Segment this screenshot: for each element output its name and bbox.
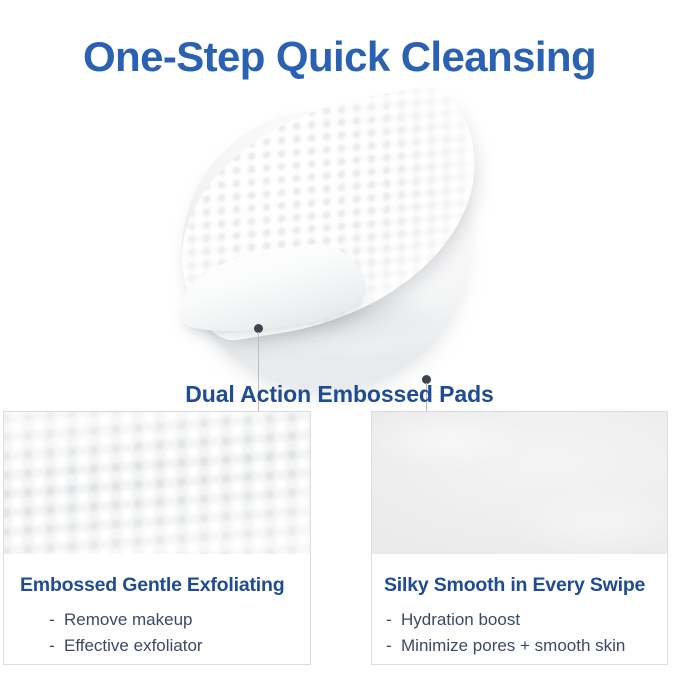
feature-panel-smooth: Silky Smooth in Every Swipe - Hydration …	[371, 411, 668, 665]
hero-caption: Dual Action Embossed Pads	[0, 381, 679, 408]
feature-panel-body: Embossed Gentle Exfoliating - Remove mak…	[4, 554, 310, 659]
embossed-texture-swatch	[4, 412, 310, 554]
bullet-dash: -	[49, 607, 64, 633]
bullet-dash: -	[386, 607, 401, 633]
bullet-text: Remove makeup	[64, 607, 193, 633]
bullet-dash: -	[49, 633, 64, 659]
feature-panel-embossed: Embossed Gentle Exfoliating - Remove mak…	[3, 411, 311, 665]
feature-panel-body: Silky Smooth in Every Swipe - Hydration …	[372, 554, 667, 659]
feature-bullet-list: - Hydration boost - Minimize pores + smo…	[372, 607, 667, 659]
hero-product-image	[0, 100, 679, 385]
feature-heading: Silky Smooth in Every Swipe	[372, 574, 667, 597]
feature-bullet-list: - Remove makeup - Effective exfoliator	[4, 607, 310, 659]
list-item: - Minimize pores + smooth skin	[372, 633, 667, 659]
bullet-dash: -	[386, 633, 401, 659]
list-item: - Remove makeup	[4, 607, 310, 633]
bullet-text: Effective exfoliator	[64, 633, 203, 659]
list-item: - Effective exfoliator	[4, 633, 310, 659]
smooth-texture-swatch	[372, 412, 667, 554]
page-title: One-Step Quick Cleansing	[0, 33, 679, 81]
feature-heading: Embossed Gentle Exfoliating	[4, 574, 310, 597]
list-item: - Hydration boost	[372, 607, 667, 633]
bullet-text: Hydration boost	[401, 607, 520, 633]
bullet-text: Minimize pores + smooth skin	[401, 633, 625, 659]
